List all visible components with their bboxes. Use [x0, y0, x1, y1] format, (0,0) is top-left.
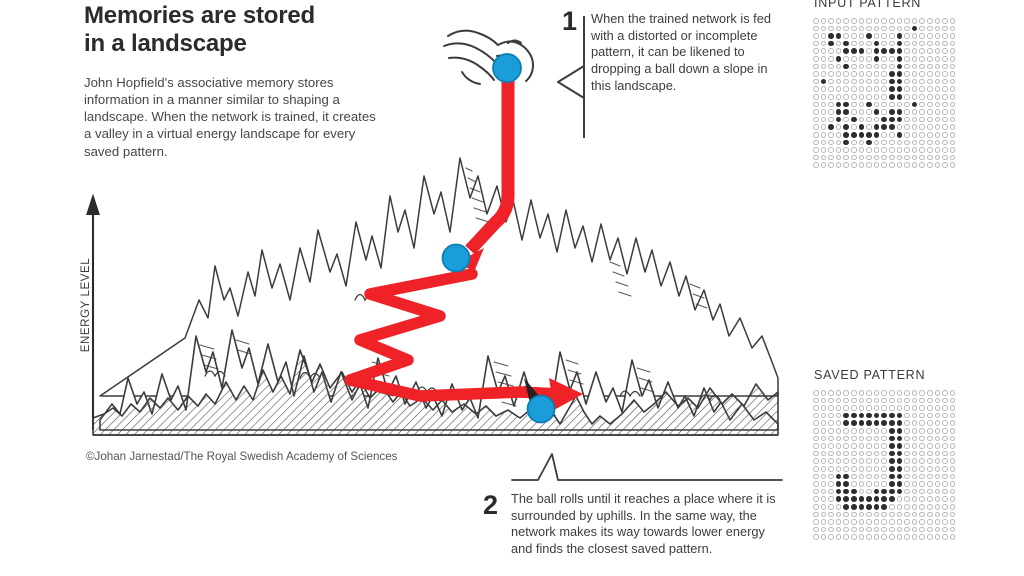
dot-empty: [827, 442, 835, 450]
dot-empty: [896, 518, 904, 526]
dot-empty: [911, 55, 919, 63]
dot-filled: [850, 131, 858, 139]
dot-empty: [926, 146, 934, 154]
dot-empty: [835, 412, 843, 420]
dot-empty: [941, 419, 949, 427]
dot-filled: [850, 419, 858, 427]
dot-empty: [880, 40, 888, 48]
dot-filled: [896, 473, 904, 481]
dot-empty: [918, 442, 926, 450]
dot-empty: [873, 146, 881, 154]
dot-empty: [934, 108, 942, 116]
dot-empty: [896, 146, 904, 154]
dot-empty: [934, 32, 942, 40]
dot-empty: [926, 389, 934, 397]
dot-empty: [835, 427, 843, 435]
dot-empty: [949, 404, 957, 412]
dot-empty: [820, 131, 828, 139]
dot-empty: [949, 442, 957, 450]
dot-empty: [827, 412, 835, 420]
dot-empty: [873, 139, 881, 147]
dot-filled: [888, 450, 896, 458]
dot-empty: [926, 457, 934, 465]
dot-empty: [903, 101, 911, 109]
dot-empty: [888, 511, 896, 519]
dot-empty: [911, 78, 919, 86]
dot-empty: [926, 397, 934, 405]
dot-empty: [827, 63, 835, 71]
dot-empty: [934, 435, 942, 443]
dot-empty: [812, 397, 820, 405]
dot-empty: [812, 473, 820, 481]
dot-empty: [850, 533, 858, 541]
dot-filled: [896, 435, 904, 443]
dot-empty: [903, 435, 911, 443]
dot-empty: [911, 518, 919, 526]
dot-empty: [926, 17, 934, 25]
dot-empty: [949, 25, 957, 33]
dot-empty: [812, 47, 820, 55]
dot-empty: [858, 435, 866, 443]
dot-empty: [949, 457, 957, 465]
dot-empty: [896, 526, 904, 534]
dot-filled: [888, 123, 896, 131]
dot-empty: [820, 419, 828, 427]
dot-empty: [941, 161, 949, 169]
dot-empty: [812, 457, 820, 465]
dot-empty: [858, 404, 866, 412]
dot-empty: [926, 419, 934, 427]
dot-empty: [949, 63, 957, 71]
dot-empty: [949, 101, 957, 109]
dot-empty: [835, 146, 843, 154]
dot-empty: [934, 511, 942, 519]
dot-empty: [880, 93, 888, 101]
dot-empty: [880, 17, 888, 25]
dot-empty: [820, 161, 828, 169]
dot-empty: [820, 63, 828, 71]
dot-empty: [820, 412, 828, 420]
dot-empty: [865, 63, 873, 71]
dot-empty: [918, 161, 926, 169]
dot-filled: [842, 495, 850, 503]
dot-filled: [858, 419, 866, 427]
dot-empty: [911, 480, 919, 488]
dot-empty: [949, 78, 957, 86]
dot-empty: [820, 533, 828, 541]
dot-filled: [896, 480, 904, 488]
dot-empty: [873, 404, 881, 412]
dot-empty: [903, 480, 911, 488]
dot-empty: [926, 435, 934, 443]
dot-empty: [918, 435, 926, 443]
dot-empty: [911, 389, 919, 397]
dot-filled: [888, 85, 896, 93]
dot-empty: [842, 404, 850, 412]
dot-empty: [918, 101, 926, 109]
dot-empty: [949, 32, 957, 40]
dot-filled: [835, 495, 843, 503]
dot-empty: [812, 533, 820, 541]
dot-empty: [949, 397, 957, 405]
dot-empty: [949, 47, 957, 55]
dot-empty: [903, 139, 911, 147]
dot-empty: [903, 511, 911, 519]
dot-empty: [850, 108, 858, 116]
dot-empty: [911, 47, 919, 55]
dot-empty: [934, 495, 942, 503]
dot-empty: [842, 85, 850, 93]
dot-empty: [949, 389, 957, 397]
input-pattern-title: INPUT PATTERN: [814, 0, 956, 10]
dot-empty: [941, 427, 949, 435]
dot-empty: [903, 63, 911, 71]
dot-empty: [896, 154, 904, 162]
dot-empty: [812, 511, 820, 519]
dot-filled: [888, 473, 896, 481]
dot-empty: [934, 442, 942, 450]
dot-empty: [850, 480, 858, 488]
dot-empty: [835, 63, 843, 71]
dot-empty: [949, 419, 957, 427]
dot-empty: [903, 457, 911, 465]
dot-filled: [842, 419, 850, 427]
dot-filled: [911, 25, 919, 33]
dot-filled: [896, 465, 904, 473]
dot-empty: [926, 25, 934, 33]
dot-empty: [835, 40, 843, 48]
dot-empty: [812, 526, 820, 534]
dot-empty: [949, 526, 957, 534]
dot-filled: [888, 495, 896, 503]
dot-filled: [888, 427, 896, 435]
dot-empty: [812, 116, 820, 124]
dot-empty: [850, 161, 858, 169]
dot-empty: [934, 25, 942, 33]
dot-empty: [918, 93, 926, 101]
energy-axis-label: ENERGY LEVEL: [80, 225, 92, 385]
dot-empty: [880, 131, 888, 139]
dot-empty: [865, 518, 873, 526]
dot-empty: [812, 108, 820, 116]
dot-filled: [873, 412, 881, 420]
dot-empty: [918, 473, 926, 481]
dot-empty: [911, 511, 919, 519]
dot-empty: [850, 442, 858, 450]
dot-empty: [918, 412, 926, 420]
dot-empty: [941, 397, 949, 405]
dot-empty: [926, 123, 934, 131]
dot-empty: [835, 70, 843, 78]
credit-line: ©Johan Jarnestad/The Royal Swedish Acade…: [86, 450, 397, 463]
dot-empty: [918, 511, 926, 519]
ball-bottom-valley: [528, 396, 555, 423]
dot-empty: [926, 533, 934, 541]
dot-empty: [903, 419, 911, 427]
dot-empty: [835, 465, 843, 473]
dot-empty: [850, 450, 858, 458]
dot-empty: [812, 427, 820, 435]
dot-filled: [842, 40, 850, 48]
dot-empty: [820, 427, 828, 435]
dot-empty: [888, 518, 896, 526]
dot-empty: [911, 161, 919, 169]
dot-empty: [941, 154, 949, 162]
dot-filled: [858, 495, 866, 503]
dot-empty: [926, 518, 934, 526]
dot-empty: [880, 450, 888, 458]
callout-2-number: 2: [483, 492, 498, 519]
dot-empty: [835, 47, 843, 55]
dot-filled: [896, 70, 904, 78]
dot-empty: [941, 108, 949, 116]
dot-empty: [949, 511, 957, 519]
dot-empty: [812, 412, 820, 420]
dot-empty: [888, 17, 896, 25]
dot-empty: [896, 533, 904, 541]
dot-empty: [858, 161, 866, 169]
dot-empty: [880, 404, 888, 412]
dot-filled: [873, 108, 881, 116]
dot-filled: [820, 78, 828, 86]
dot-empty: [918, 108, 926, 116]
dot-filled: [880, 47, 888, 55]
dot-empty: [858, 32, 866, 40]
saved-pattern-panel: SAVED PATTERN: [812, 368, 956, 541]
dot-empty: [918, 70, 926, 78]
dot-empty: [934, 533, 942, 541]
dot-filled: [842, 108, 850, 116]
dot-empty: [842, 442, 850, 450]
dot-empty: [888, 526, 896, 534]
dot-empty: [903, 518, 911, 526]
dot-filled: [896, 108, 904, 116]
infographic-root: Memories are stored in a landscape John …: [0, 0, 1024, 576]
callout-1-number: 1: [562, 8, 577, 35]
dot-empty: [873, 427, 881, 435]
dot-empty: [949, 123, 957, 131]
dot-empty: [873, 511, 881, 519]
dot-empty: [926, 85, 934, 93]
dot-filled: [880, 419, 888, 427]
dot-empty: [820, 495, 828, 503]
dot-empty: [873, 518, 881, 526]
dot-empty: [903, 108, 911, 116]
dot-empty: [827, 161, 835, 169]
dot-empty: [903, 465, 911, 473]
dot-filled: [850, 47, 858, 55]
dot-empty: [865, 146, 873, 154]
dot-empty: [888, 25, 896, 33]
dot-empty: [812, 131, 820, 139]
dot-empty: [842, 397, 850, 405]
dot-empty: [903, 131, 911, 139]
dot-empty: [934, 123, 942, 131]
dot-empty: [911, 85, 919, 93]
dot-empty: [949, 412, 957, 420]
dot-empty: [949, 495, 957, 503]
dot-empty: [934, 503, 942, 511]
dot-empty: [858, 154, 866, 162]
dot-empty: [911, 442, 919, 450]
dot-filled: [842, 123, 850, 131]
dot-empty: [934, 93, 942, 101]
dot-empty: [835, 442, 843, 450]
dot-empty: [865, 526, 873, 534]
dot-empty: [812, 146, 820, 154]
dot-empty: [918, 518, 926, 526]
dot-empty: [896, 101, 904, 109]
dot-filled: [842, 139, 850, 147]
dot-empty: [873, 450, 881, 458]
dot-empty: [918, 32, 926, 40]
dot-empty: [888, 404, 896, 412]
input-pattern-grid: [812, 17, 956, 169]
callout-1-leader-line: [528, 14, 588, 144]
dot-filled: [865, 131, 873, 139]
dot-empty: [911, 154, 919, 162]
dot-empty: [949, 480, 957, 488]
dot-empty: [812, 55, 820, 63]
dot-empty: [911, 526, 919, 534]
dot-empty: [911, 17, 919, 25]
dot-empty: [835, 123, 843, 131]
dot-empty: [888, 154, 896, 162]
dot-filled: [896, 32, 904, 40]
dot-empty: [827, 78, 835, 86]
dot-empty: [918, 116, 926, 124]
dot-empty: [934, 131, 942, 139]
dot-empty: [812, 93, 820, 101]
callout-1-text: When the trained network is fed with a d…: [591, 11, 781, 94]
dot-empty: [903, 495, 911, 503]
dot-empty: [827, 131, 835, 139]
dot-empty: [835, 533, 843, 541]
dot-empty: [858, 101, 866, 109]
dot-empty: [880, 526, 888, 534]
dot-empty: [858, 55, 866, 63]
dot-empty: [858, 108, 866, 116]
dot-empty: [918, 404, 926, 412]
dot-filled: [888, 412, 896, 420]
callout-2-text: The ball rolls until it reaches a place …: [511, 491, 783, 558]
dot-empty: [941, 511, 949, 519]
ball-mid-slope: [443, 245, 470, 272]
dot-empty: [926, 55, 934, 63]
dot-empty: [941, 404, 949, 412]
dot-empty: [827, 47, 835, 55]
dot-empty: [835, 25, 843, 33]
dot-empty: [926, 480, 934, 488]
dot-empty: [903, 17, 911, 25]
dot-empty: [934, 450, 942, 458]
dot-empty: [858, 78, 866, 86]
dot-empty: [934, 526, 942, 534]
dot-empty: [858, 442, 866, 450]
dot-filled: [842, 473, 850, 481]
dot-empty: [934, 101, 942, 109]
dot-empty: [911, 123, 919, 131]
dot-filled: [896, 78, 904, 86]
dot-empty: [934, 161, 942, 169]
dot-empty: [941, 93, 949, 101]
dot-empty: [835, 139, 843, 147]
dot-empty: [835, 511, 843, 519]
dot-empty: [903, 78, 911, 86]
dot-empty: [842, 146, 850, 154]
dot-filled: [888, 70, 896, 78]
dot-empty: [820, 116, 828, 124]
dot-empty: [812, 85, 820, 93]
dot-empty: [850, 101, 858, 109]
dot-empty: [941, 139, 949, 147]
dot-empty: [888, 503, 896, 511]
dot-empty: [873, 442, 881, 450]
dot-empty: [926, 427, 934, 435]
dot-empty: [918, 40, 926, 48]
dot-empty: [858, 480, 866, 488]
dot-filled: [827, 123, 835, 131]
dot-empty: [827, 17, 835, 25]
dot-empty: [865, 389, 873, 397]
dot-empty: [858, 40, 866, 48]
dot-filled: [896, 412, 904, 420]
dot-filled: [896, 488, 904, 496]
dot-empty: [926, 101, 934, 109]
dot-filled: [888, 78, 896, 86]
dot-empty: [903, 488, 911, 496]
dot-empty: [896, 389, 904, 397]
dot-empty: [850, 25, 858, 33]
dot-empty: [911, 503, 919, 511]
dot-empty: [896, 404, 904, 412]
dot-empty: [926, 450, 934, 458]
dot-empty: [911, 495, 919, 503]
dot-empty: [812, 139, 820, 147]
dot-filled: [850, 503, 858, 511]
dot-empty: [835, 389, 843, 397]
dot-empty: [949, 533, 957, 541]
dot-empty: [865, 70, 873, 78]
dot-empty: [934, 412, 942, 420]
dot-filled: [873, 55, 881, 63]
dot-empty: [926, 511, 934, 519]
dot-empty: [820, 465, 828, 473]
dot-empty: [926, 465, 934, 473]
dot-empty: [827, 435, 835, 443]
dot-empty: [820, 101, 828, 109]
dot-empty: [941, 488, 949, 496]
dot-empty: [949, 518, 957, 526]
dot-empty: [865, 25, 873, 33]
dot-empty: [827, 154, 835, 162]
dot-empty: [949, 503, 957, 511]
dot-empty: [926, 70, 934, 78]
dot-empty: [827, 511, 835, 519]
dot-empty: [941, 518, 949, 526]
dot-empty: [926, 404, 934, 412]
dot-empty: [926, 63, 934, 71]
dot-filled: [865, 412, 873, 420]
dot-empty: [858, 146, 866, 154]
dot-empty: [903, 404, 911, 412]
dot-empty: [941, 123, 949, 131]
dot-empty: [926, 161, 934, 169]
dot-empty: [850, 473, 858, 481]
dot-empty: [842, 533, 850, 541]
dot-empty: [918, 85, 926, 93]
dot-empty: [880, 511, 888, 519]
